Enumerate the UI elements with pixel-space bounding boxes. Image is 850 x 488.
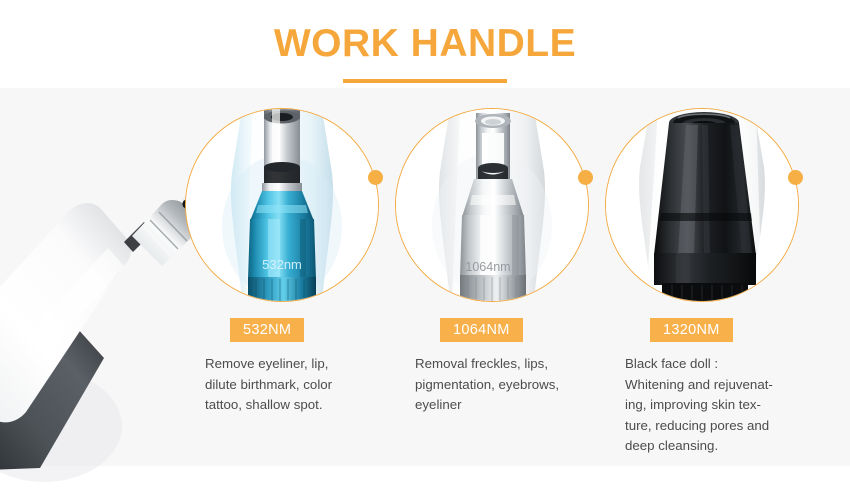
product-card-532nm[interactable]: 532nm 532NM Remove eyeliner, lip, dilute…: [182, 105, 392, 483]
laser-tip-1320nm-image: [606, 109, 798, 301]
product-card-1320nm[interactable]: 1320NM Black face doll : Whitening and r…: [602, 105, 812, 483]
card-description: Remove eyeliner, lip, dilute birthmark, …: [205, 354, 395, 416]
tip-engraving-text: 532nm: [262, 257, 302, 272]
wavelength-badge[interactable]: 532NM: [230, 318, 304, 342]
orange-dot-marker: [578, 170, 593, 185]
circle-image-frame-1064nm: 1064nm: [392, 105, 592, 305]
wavelength-badge[interactable]: 1064NM: [440, 318, 523, 342]
wavelength-badge[interactable]: 1320NM: [650, 318, 733, 342]
work-handle-infographic: WORK HANDLE: [0, 0, 850, 483]
hero-handpiece-image: [0, 96, 212, 483]
circle-image-frame-532nm: 532nm: [182, 105, 382, 305]
orange-dot-marker: [788, 170, 803, 185]
product-card-1064nm[interactable]: 1064nm 1064NM Removal freckles, lips, pi…: [392, 105, 602, 483]
orange-dot-marker: [368, 170, 383, 185]
circle-image-clip: 532nm: [186, 109, 378, 301]
circle-image-clip: 1064nm: [396, 109, 588, 301]
title-underline-divider: [343, 79, 507, 83]
card-description: Removal freckles, lips, pigmentation, ey…: [415, 354, 605, 416]
laser-tip-1064nm-image: 1064nm: [396, 109, 588, 301]
page-title: WORK HANDLE: [0, 21, 850, 67]
circle-image-clip: [606, 109, 798, 301]
tip-engraving-text: 1064nm: [465, 260, 510, 274]
card-description: Black face doll : Whitening and rejuvena…: [625, 354, 821, 457]
circle-image-frame-1320nm: [602, 105, 802, 305]
laser-tip-532nm-image: 532nm: [186, 109, 378, 301]
